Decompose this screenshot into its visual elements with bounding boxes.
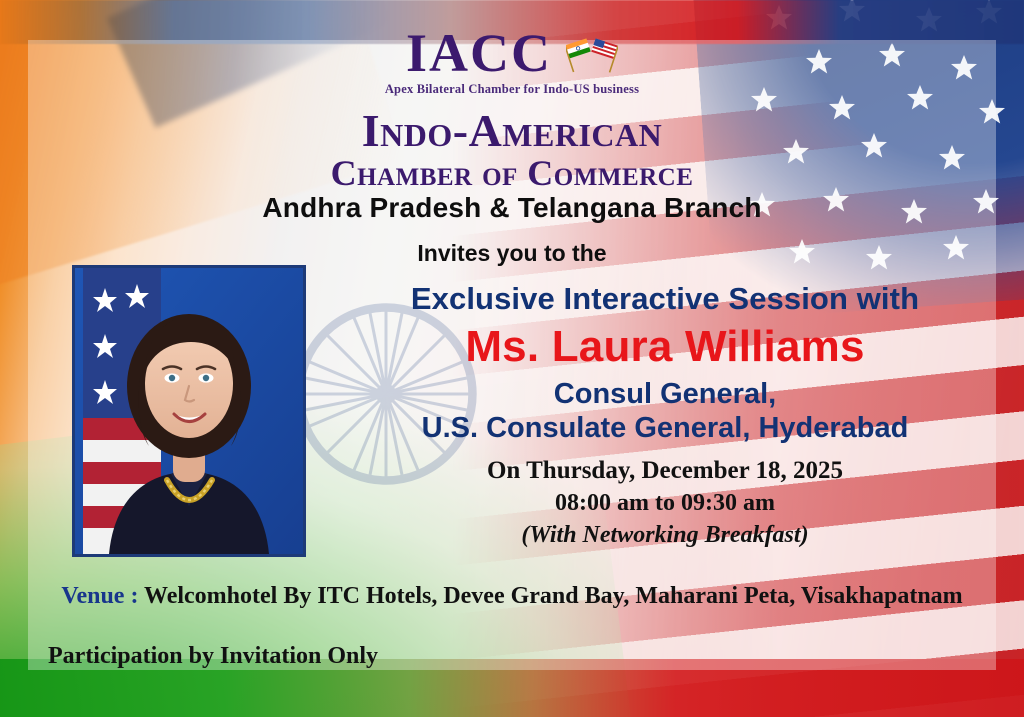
iacc-name-line2: Chamber of Commerce [0,155,1024,192]
participation-note: Participation by Invitation Only [48,643,378,670]
event-date: On Thursday, December 18, 2025 [320,455,1010,488]
venue-line: Venue : Welcomhotel By ITC Hotels, Devee… [0,583,1024,610]
event-time: 08:00 am to 09:30 am [320,488,1010,519]
invitation-poster: IACC [0,0,1024,717]
event-note: (With Networking Breakfast) [320,519,1010,551]
india-usa-crossed-flags-icon [566,33,618,73]
iacc-tagline: Apex Bilateral Chamber for Indo-US busin… [0,82,1024,97]
iacc-logo-block: IACC [0,26,1024,192]
iacc-acronym: IACC [406,26,552,80]
session-title: Exclusive Interactive Session with [320,282,1010,317]
iacc-name-line1: Indo-American [0,107,1024,155]
guest-portrait-photo [72,265,306,557]
branch-name: Andhra Pradesh & Telangana Branch [0,192,1024,224]
invitation-intro: Invites you to the [0,240,1024,267]
event-schedule: On Thursday, December 18, 2025 08:00 am … [320,455,1010,551]
guest-role-line2: U.S. Consulate General, Hyderabad [320,411,1010,445]
venue-label: Venue : [61,583,138,609]
guest-role-line1: Consul General, [320,377,1010,411]
guest-name: Ms. Laura Williams [320,323,1010,371]
portrait-illustration [75,268,303,554]
venue-address: Welcomhotel By ITC Hotels, Devee Grand B… [144,583,963,609]
iacc-full-name: Indo-American Chamber of Commerce [0,107,1024,192]
event-headline: Exclusive Interactive Session with Ms. L… [320,282,1010,446]
